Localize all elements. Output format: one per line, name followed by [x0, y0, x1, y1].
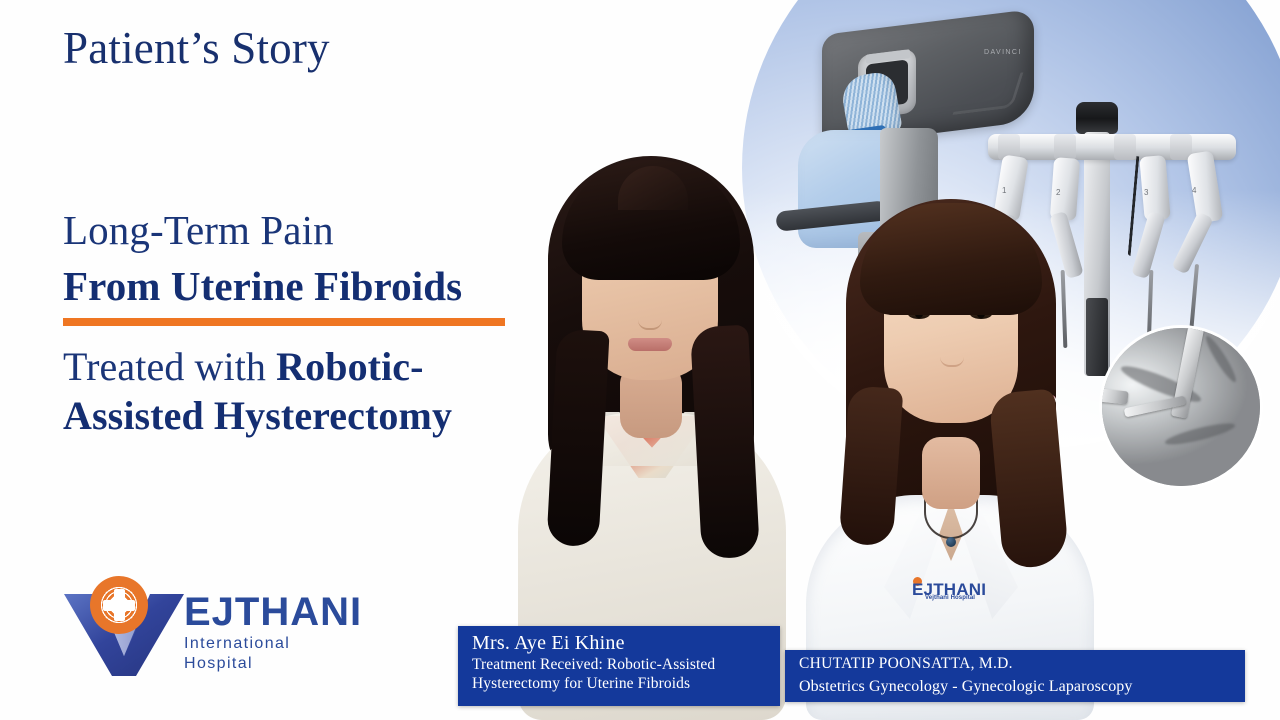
medical-cross-icon	[90, 576, 148, 634]
doctor-name: CHUTATIP POONSATTA, M.D.	[799, 653, 1233, 675]
doctor-portrait: EJTHANI Vejthani Hospital	[800, 195, 1100, 720]
robot-instrument-4	[1189, 264, 1199, 334]
headline-line-3: Treated with Robotic-	[63, 343, 424, 390]
console-vent	[952, 72, 1023, 115]
console-brand-label: DAVINCI	[984, 49, 1022, 56]
poster-canvas: DAVINCI 1 2 3	[0, 0, 1280, 720]
coat-logo-tagline: Vejthani Hospital	[925, 595, 975, 601]
patient-name: Mrs. Aye Ei Khine	[472, 631, 768, 655]
patient-treatment-l1: Treatment Received: Robotic-Assisted	[472, 655, 768, 674]
headline-line-1: Long-Term Pain	[63, 206, 334, 254]
patient-caption-banner: Mrs. Aye Ei Khine Treatment Received: Ro…	[458, 626, 780, 706]
robot-forearm-3	[1131, 211, 1166, 279]
logo-wordmark: EJTHANI International Hospital	[184, 590, 362, 674]
orange-divider	[63, 318, 505, 326]
headline-line-4: Assisted Hysterectomy	[63, 392, 452, 439]
cross-horizontal	[103, 600, 135, 611]
cart-top-module	[1076, 102, 1118, 134]
patient-treatment-l2: Hysterectomy for Uterine Fibroids	[472, 674, 768, 693]
doctor-specialty: Obstetrics Gynecology - Gynecologic Lapa…	[799, 675, 1233, 698]
doctor-neck	[922, 437, 980, 509]
patient-mouth	[628, 338, 672, 351]
headline-line-3-bold: Robotic-	[276, 344, 423, 389]
logo-tagline: International Hospital	[184, 634, 362, 674]
doctor-necklace-pendant	[946, 537, 956, 547]
hospital-logo[interactable]: EJTHANI International Hospital	[62, 578, 352, 678]
patient-hair-strand-right	[690, 325, 760, 560]
doctor-caption-banner: CHUTATIP POONSATTA, M.D. Obstetrics Gyne…	[785, 650, 1245, 702]
headline-line-3-regular: Treated with	[63, 344, 276, 389]
arm-number-3: 3	[1144, 188, 1148, 197]
logo-name: EJTHANI	[184, 590, 362, 634]
doctor-hair-curl-right	[988, 388, 1069, 569]
doctor-nose	[940, 355, 964, 367]
doctor-hair-curl-left	[839, 385, 904, 546]
headline-line-2: From Uterine Fibroids	[63, 262, 462, 310]
laparoscopic-instrument	[1102, 388, 1129, 404]
boom-segment	[1114, 134, 1136, 160]
arm-number-4: 4	[1192, 186, 1196, 195]
robot-forearm-4	[1171, 211, 1213, 274]
arm-number-1: 1	[1002, 186, 1006, 195]
laparoscopy-view-inset	[1102, 328, 1260, 486]
patient-nose	[638, 318, 662, 330]
page-title: Patient’s Story	[63, 22, 330, 74]
coat-embroidered-logo: EJTHANI Vejthani Hospital	[912, 577, 990, 607]
cart-cable	[1128, 156, 1140, 256]
boom-segment	[1054, 134, 1076, 160]
